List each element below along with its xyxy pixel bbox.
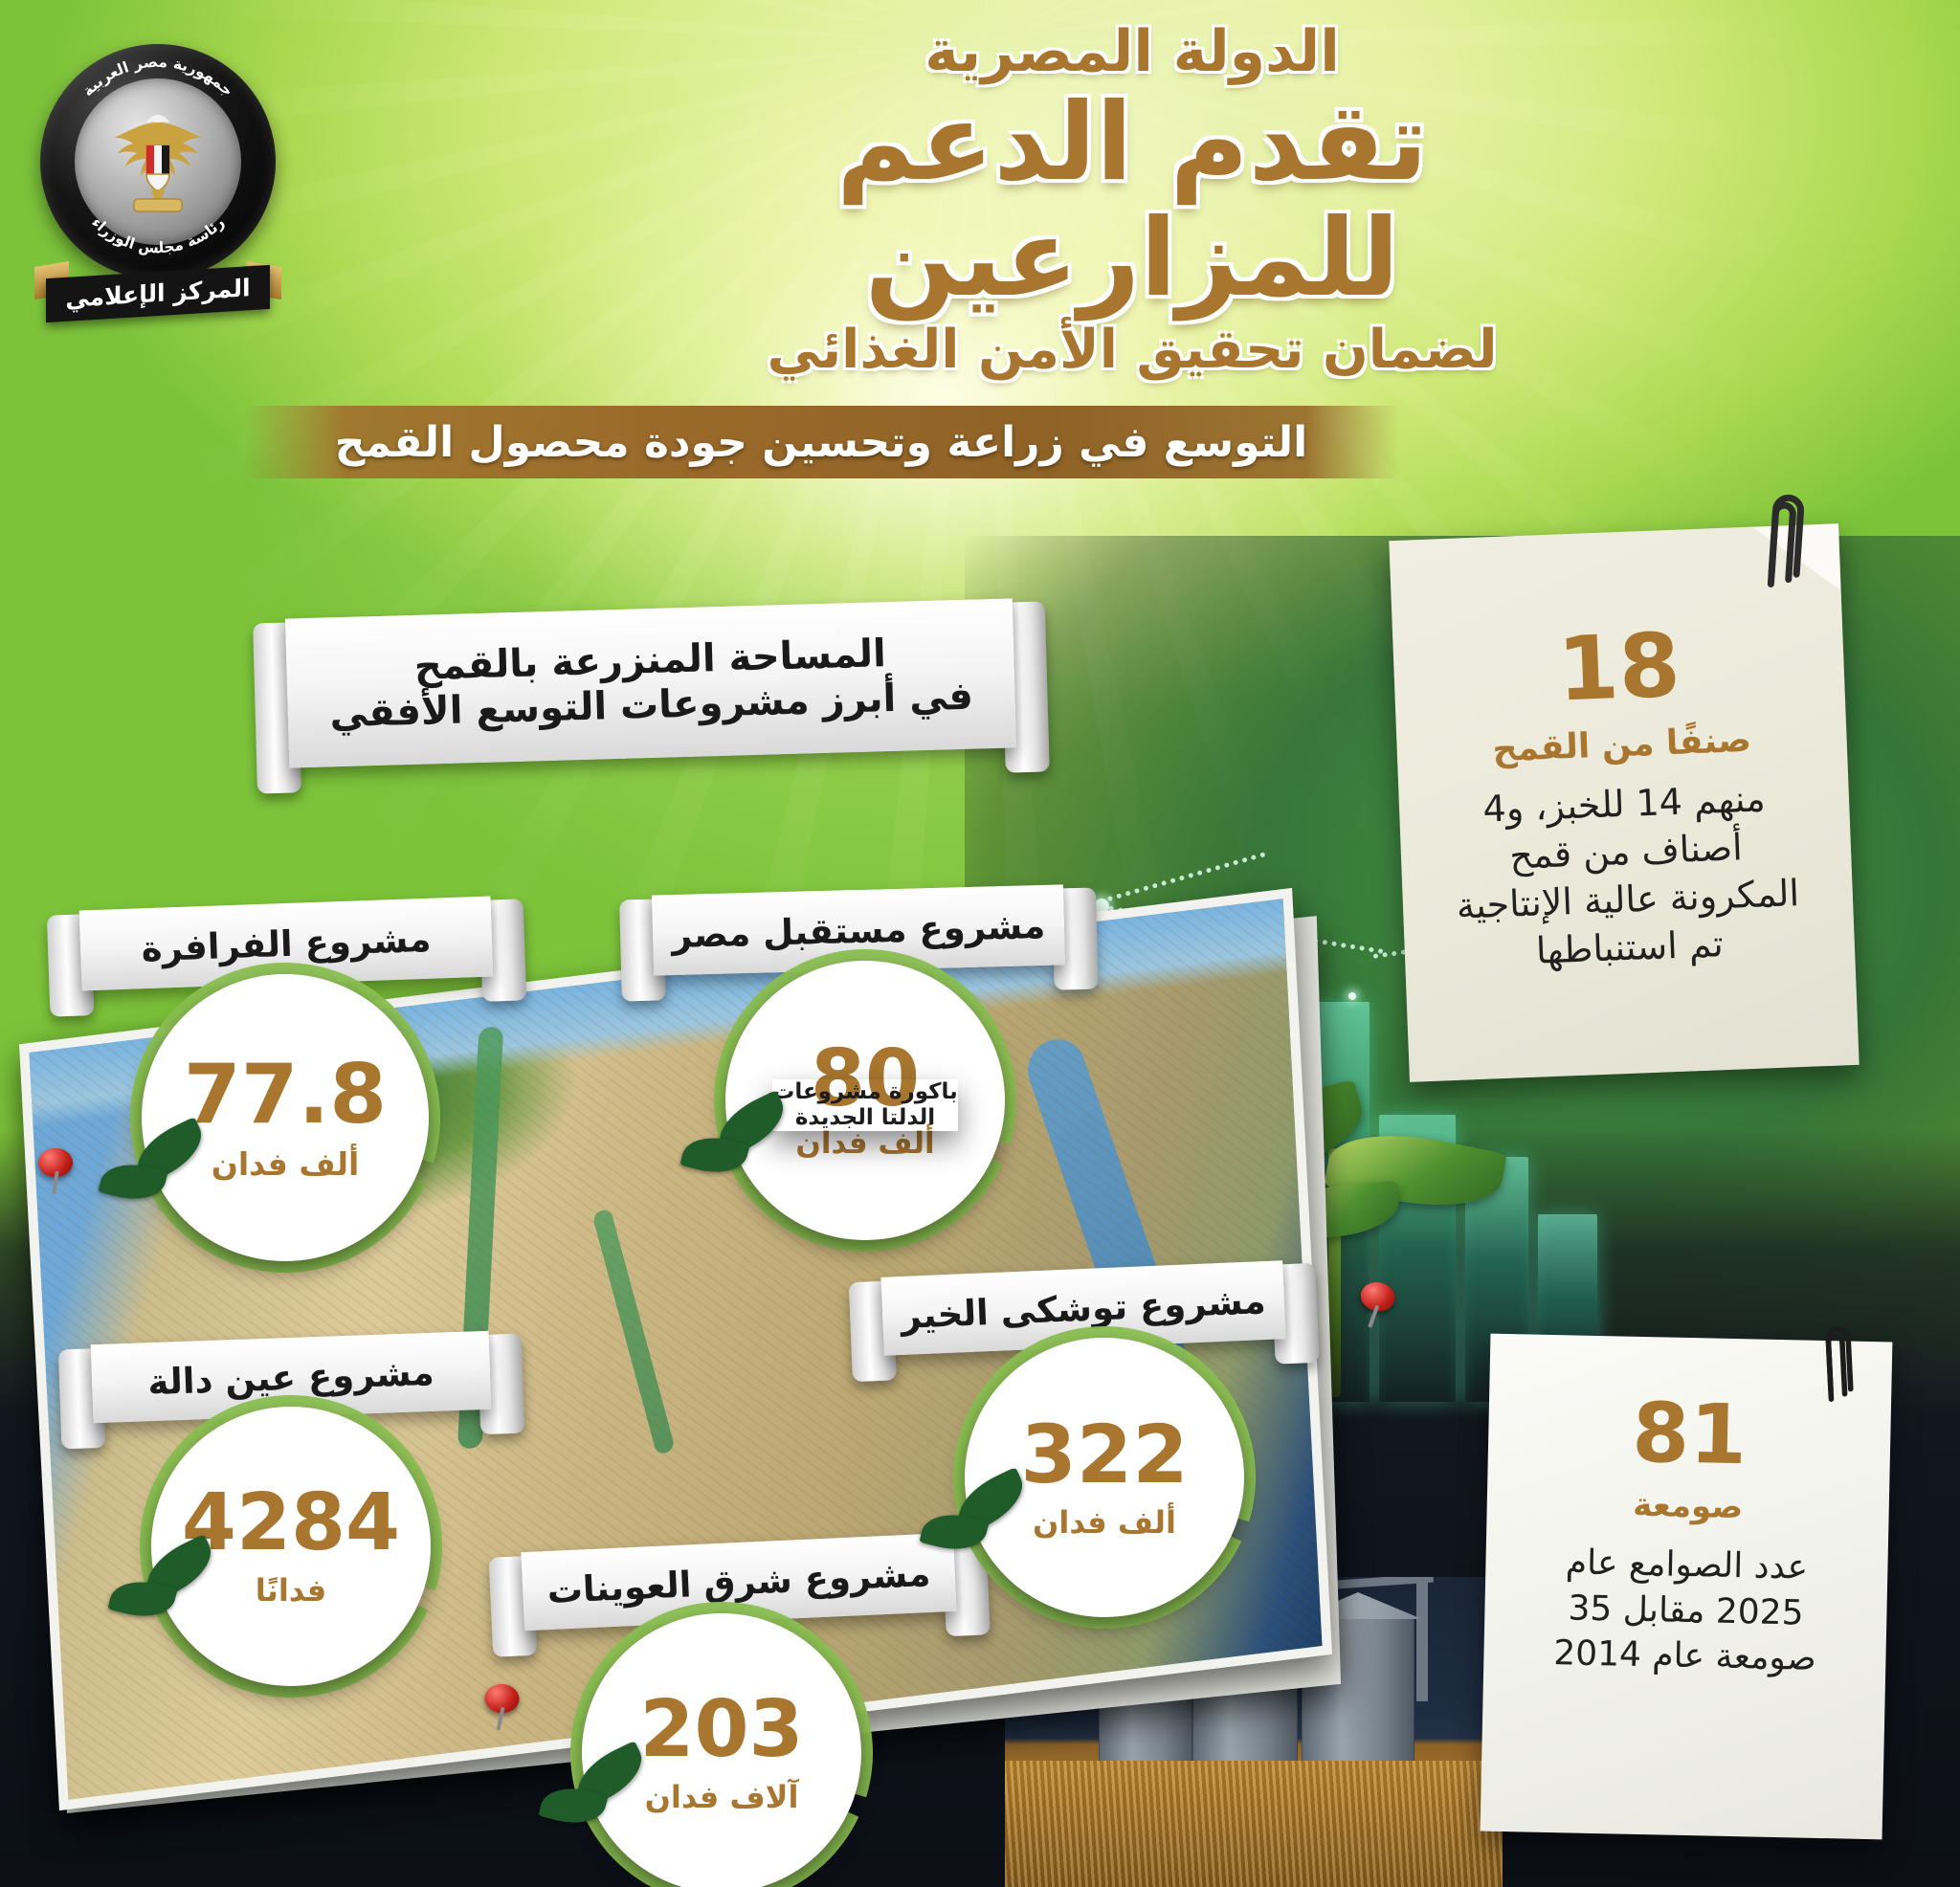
paperclip-icon	[1759, 484, 1814, 594]
leaf-icon	[540, 1755, 647, 1843]
media-center-banner: المركز الإعلامي	[33, 256, 283, 323]
leaf-icon	[921, 1481, 1028, 1569]
project-unit: ألف فدان	[795, 1126, 934, 1161]
infographic-canvas: الدولة المصرية تقدم الدعم للمزارعين لضما…	[0, 0, 1960, 1887]
note-value: 18	[1556, 622, 1682, 715]
note-unit: صومعة	[1633, 1486, 1744, 1526]
project-note: باكورة مشروعات الدلتا الجديدة	[772, 1079, 958, 1130]
project-unit: ألف فدان	[1033, 1504, 1176, 1541]
sticky-note-silos: 81 صومعة عدد الصوامع عام 2025 مقابل 35 ص…	[1481, 1334, 1893, 1840]
note-value: 81	[1632, 1392, 1748, 1476]
project-unit: آلاف فدان	[645, 1779, 799, 1815]
project-stat-mostakbal-misr: 80 ألف فدان باكورة مشروعات الدلتا الجديد…	[725, 961, 1005, 1240]
project-value: 77.8	[184, 1054, 387, 1136]
subtitle-text: التوسع في زراعة وتحسين جودة محصول القمح	[335, 418, 1308, 467]
title-line-2: تقدم الدعم للمزارعين	[591, 85, 1673, 317]
note-body: عدد الصوامع عام 2025 مقابل 35 صومعة عام …	[1516, 1539, 1856, 1682]
subtitle-banner: التوسع في زراعة وتحسين جودة محصول القمح	[243, 406, 1399, 478]
emblem-ring-text: جمهورية مصر العربية رئاسة مجلس الوزراء	[40, 44, 276, 279]
note-body: منهم 14 للخبز، و4 أصناف من قمح المكرونة …	[1440, 773, 1813, 979]
emblem-top-text: جمهورية مصر العربية	[79, 54, 236, 100]
project-stat-farafra: 77.8 ألف فدان	[142, 974, 429, 1261]
note-unit: صنفًا من القمح	[1492, 721, 1752, 769]
emblem-bottom-text: رئاسة مجلس الوزراء	[88, 213, 228, 256]
map-pin-northwest	[38, 1148, 73, 1192]
section-ribbon: المساحة المنزرعة بالقمح في أبرز مشروعات …	[285, 598, 1016, 767]
project-stat-ain-dalla: 4284 فدانًا	[151, 1407, 431, 1686]
government-emblem: جمهورية مصر العربية رئاسة مجلس الوزراء ا…	[33, 44, 283, 331]
leaf-icon	[681, 1104, 789, 1192]
project-stat-east-oweinat: 203 آلاف فدان	[582, 1613, 861, 1887]
leaf-icon	[109, 1548, 216, 1636]
project-unit: فدانًا	[256, 1572, 326, 1609]
leaf-icon	[100, 1131, 207, 1219]
title-line-3: لضمان تحقيق الأمن الغذائي	[591, 321, 1673, 380]
project-value: 203	[639, 1691, 803, 1769]
project-unit: ألف فدان	[212, 1145, 360, 1183]
project-stat-toshka: 322 ألف فدان	[965, 1338, 1244, 1617]
title-line-1: الدولة المصرية	[591, 21, 1673, 83]
project-value: 322	[1020, 1414, 1188, 1495]
map-pin-south	[482, 1683, 520, 1729]
paperclip-icon	[1818, 1319, 1860, 1406]
sticky-note-wheat-varieties: 18 صنفًا من القمح منهم 14 للخبز، و4 أصنا…	[1389, 523, 1859, 1082]
header-title-block: الدولة المصرية تقدم الدعم للمزارعين لضما…	[591, 21, 1673, 379]
project-name: مشروع مستقبل مصر	[671, 904, 1045, 955]
